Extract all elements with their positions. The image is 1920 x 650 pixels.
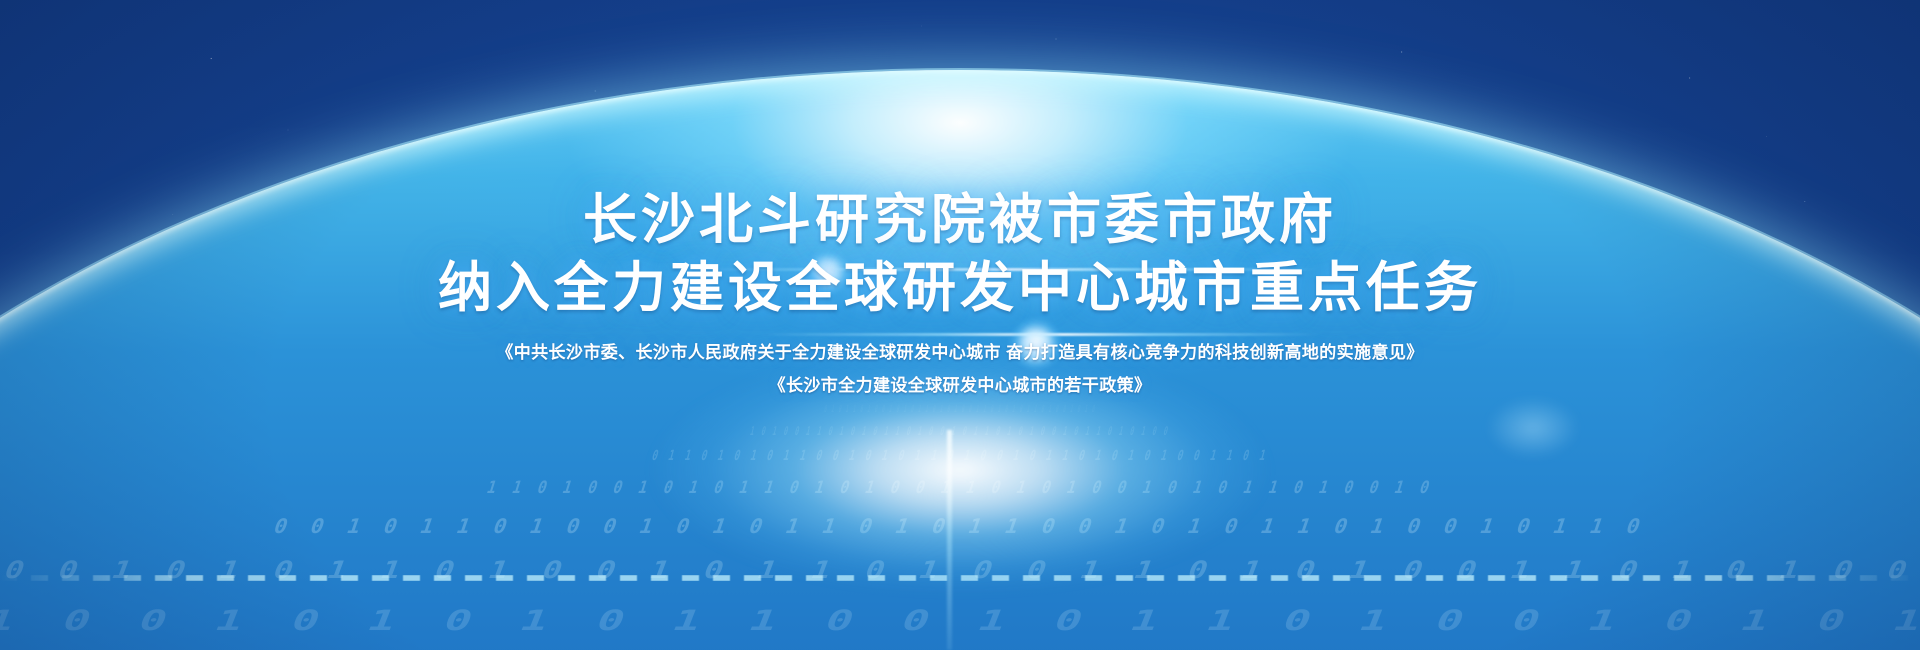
headline-line-2: 纳入全力建设全球研发中心城市重点任务 — [0, 254, 1920, 322]
page-title: 长沙北斗研究院被市委市政府 纳入全力建设全球研发中心城市重点任务 — [0, 186, 1920, 322]
headline-line-1: 长沙北斗研究院被市委市政府 — [0, 186, 1920, 254]
hero-banner: 0 1 0 1 1 0 1 0 0 1 0 1 0 1 1 0 1 0 1 0 … — [0, 0, 1920, 650]
subtitle-document-1: 《中共长沙市委、长沙市人民政府关于全力建设全球研发中心城市 奋力打造具有核心竞争… — [0, 336, 1920, 369]
subtitle-document-2: 《长沙市全力建设全球研发中心城市的若干政策》 — [0, 369, 1920, 402]
subtitle-group: 《中共长沙市委、长沙市人民政府关于全力建设全球研发中心城市 奋力打造具有核心竞争… — [0, 336, 1920, 402]
banner-text-block: 长沙北斗研究院被市委市政府 纳入全力建设全球研发中心城市重点任务 《中共长沙市委… — [0, 186, 1920, 402]
